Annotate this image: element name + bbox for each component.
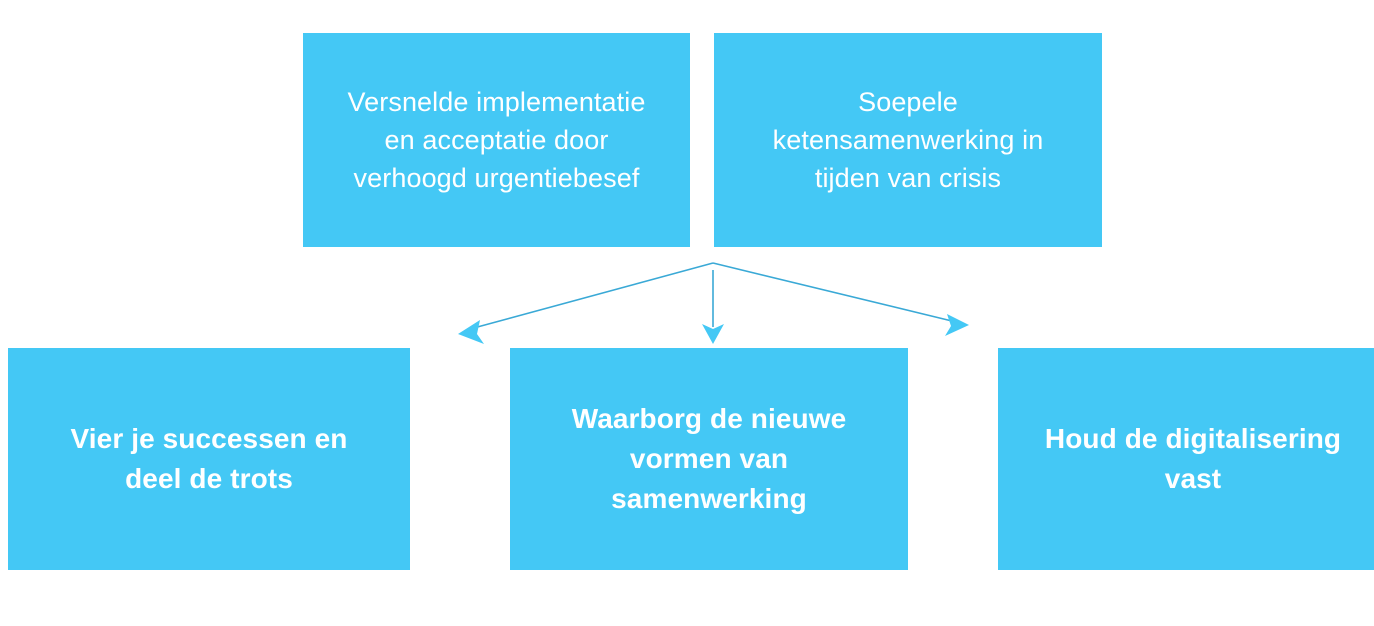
- arrow-center-head: [702, 324, 724, 344]
- arrow-left: [458, 263, 713, 344]
- arrow-center: [702, 270, 724, 344]
- diagram-canvas: Versnelde implementatie en acceptatie do…: [0, 0, 1374, 626]
- node-vier-je-successen[interactable]: Vier je successen en deel de trots: [8, 348, 410, 570]
- node-label: Vier je successen en deel de trots: [22, 419, 396, 499]
- arrow-left-head: [458, 320, 484, 344]
- node-soepele-ketensamenwerking[interactable]: Soepele ketensamenwerking in tijden van …: [714, 33, 1102, 247]
- node-waarborg-de-nieuwe-vormen[interactable]: Waarborg de nieuwe vormen van samenwerki…: [510, 348, 908, 570]
- arrow-right-head: [945, 314, 969, 336]
- node-houd-de-digitalisering-vast[interactable]: Houd de digitalisering vast: [998, 348, 1374, 570]
- arrow-left-line: [470, 263, 713, 329]
- node-label: Waarborg de nieuwe vormen van samenwerki…: [524, 399, 894, 518]
- arrow-right-line: [713, 263, 956, 322]
- node-label: Versnelde implementatie en acceptatie do…: [317, 83, 676, 198]
- node-label: Soepele ketensamenwerking in tijden van …: [728, 83, 1088, 198]
- node-versnelde-implementatie[interactable]: Versnelde implementatie en acceptatie do…: [303, 33, 690, 247]
- top-crop-artefact: [0, 0, 1374, 31]
- node-label: Houd de digitalisering vast: [1012, 419, 1374, 499]
- arrow-right: [713, 263, 969, 336]
